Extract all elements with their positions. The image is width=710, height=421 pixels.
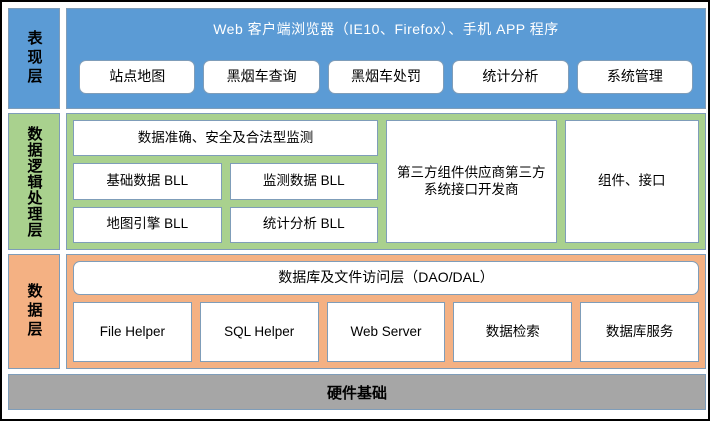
module-box-system-management[interactable]: 系统管理	[577, 60, 693, 94]
module-box-smoke-vehicle-penalty[interactable]: 黑烟车处罚	[328, 60, 444, 94]
data-box-sql-helper[interactable]: SQL Helper	[200, 302, 319, 362]
logic-box-data-monitoring[interactable]: 数据准确、安全及合法型监测	[73, 120, 378, 156]
logic-box-monitoring-data-bll[interactable]: 监测数据 BLL	[230, 163, 379, 199]
data-box-file-helper[interactable]: File Helper	[73, 302, 192, 362]
module-box-statistical-analysis[interactable]: 统计分析	[452, 60, 568, 94]
logic-box-components-interfaces[interactable]: 组件、接口	[565, 120, 699, 243]
module-box-station-map[interactable]: 站点地图	[79, 60, 195, 94]
logic-box-statistical-analysis-bll[interactable]: 统计分析 BLL	[230, 207, 379, 243]
logic-layer-label: 数据逻辑处理层	[8, 113, 60, 250]
logic-bll-group: 数据准确、安全及合法型监测 基础数据 BLL 监测数据 BLL 地图引擎 BLL…	[73, 120, 378, 243]
hardware-foundation-bar: 硬件基础	[8, 374, 706, 410]
business-logic-layer: 数据逻辑处理层 数据准确、安全及合法型监测 基础数据 BLL 监测数据 BLL …	[8, 113, 706, 250]
logic-layer-body: 数据准确、安全及合法型监测 基础数据 BLL 监测数据 BLL 地图引擎 BLL…	[66, 113, 706, 250]
logic-monitoring-row: 数据准确、安全及合法型监测	[73, 120, 378, 156]
presentation-layer-body: Web 客户端浏览器（IE10、Firefox）、手机 APP 程序 站点地图 …	[66, 8, 706, 109]
presentation-layer: 表现层 Web 客户端浏览器（IE10、Firefox）、手机 APP 程序 站…	[8, 8, 706, 109]
data-layer-label: 数据层	[8, 254, 60, 369]
data-box-dao-dal-access-layer[interactable]: 数据库及文件访问层（DAO/DAL）	[73, 261, 699, 295]
data-box-data-retrieval[interactable]: 数据检索	[453, 302, 572, 362]
logic-box-map-engine-bll[interactable]: 地图引擎 BLL	[73, 207, 222, 243]
data-layer-body: 数据库及文件访问层（DAO/DAL） File Helper SQL Helpe…	[66, 254, 706, 369]
data-box-web-server[interactable]: Web Server	[327, 302, 446, 362]
logic-bll-row-2: 地图引擎 BLL 统计分析 BLL	[73, 207, 378, 243]
data-layer: 数据层 数据库及文件访问层（DAO/DAL） File Helper SQL H…	[8, 254, 706, 369]
architecture-diagram: 表现层 Web 客户端浏览器（IE10、Firefox）、手机 APP 程序 站…	[0, 0, 710, 421]
data-box-database-service[interactable]: 数据库服务	[580, 302, 699, 362]
client-browser-banner: Web 客户端浏览器（IE10、Firefox）、手机 APP 程序	[71, 13, 701, 45]
logic-box-basic-data-bll[interactable]: 基础数据 BLL	[73, 163, 222, 199]
presentation-layer-label: 表现层	[8, 8, 60, 109]
module-box-smoke-vehicle-query[interactable]: 黑烟车查询	[203, 60, 319, 94]
logic-box-third-party-suppliers[interactable]: 第三方组件供应商第三方系统接口开发商	[386, 120, 557, 243]
data-component-row: File Helper SQL Helper Web Server 数据检索 数…	[73, 302, 699, 362]
presentation-module-row: 站点地图 黑烟车查询 黑烟车处罚 统计分析 系统管理	[71, 49, 701, 104]
logic-bll-row-1: 基础数据 BLL 监测数据 BLL	[73, 163, 378, 199]
